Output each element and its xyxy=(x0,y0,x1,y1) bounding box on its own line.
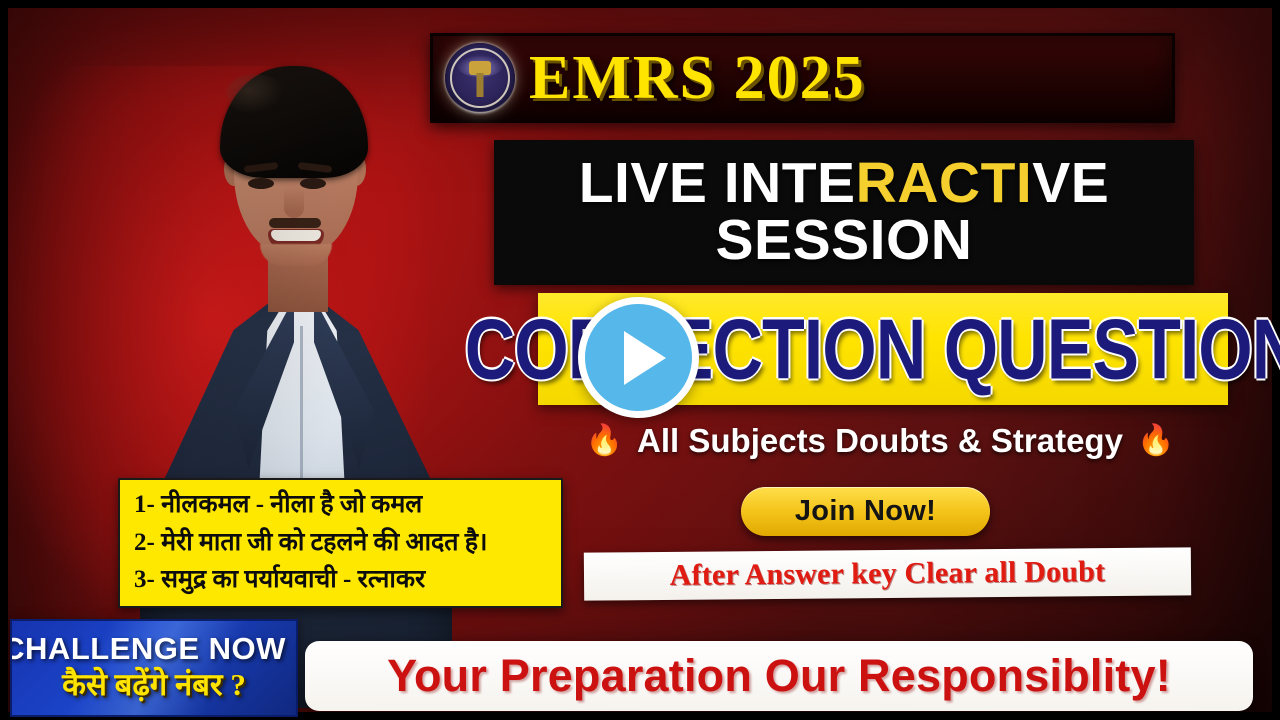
play-triangle-icon xyxy=(624,331,666,385)
emblem-trunk xyxy=(477,73,484,97)
presenter-lapel-right xyxy=(314,298,374,468)
headline-suffix: VE xyxy=(1032,151,1109,215)
presenter-eye-right xyxy=(300,178,326,189)
page-title: EMRS 2025 xyxy=(529,47,866,109)
fire-icon: 🔥 xyxy=(586,426,623,456)
headline-prefix: LIVE INTE xyxy=(579,151,856,215)
after-answer-key-text: After Answer key Clear all Doubt xyxy=(670,555,1106,593)
presenter-ear-right xyxy=(346,152,366,186)
emrs-emblem-icon xyxy=(445,43,515,113)
presenter-eyebrow-right xyxy=(298,162,333,173)
after-answer-key-banner: After Answer key Clear all Doubt xyxy=(584,547,1191,600)
live-session-headline-box: LIVE INTERACTIVE SESSION xyxy=(494,140,1194,285)
presenter-nose xyxy=(284,188,304,218)
presenter-eyebrow-left xyxy=(244,162,279,173)
play-button[interactable] xyxy=(578,297,699,418)
headline-line-1: LIVE INTERACTIVE xyxy=(579,156,1110,212)
note-line: 3- समुद्र का पर्यायवाची - रत्नाकर xyxy=(134,561,551,599)
tagline-text: Your Preparation Our Responsiblity! xyxy=(387,650,1171,702)
presenter-mouth xyxy=(268,229,324,249)
hindi-notes-box: 1- नीलकमल - नीला है जो कमल 2- मेरी माता … xyxy=(118,478,563,608)
presenter-face xyxy=(234,104,358,256)
headline-highlight: RACTI xyxy=(856,151,1033,215)
presenter-neck xyxy=(268,256,328,312)
fire-icon: 🔥 xyxy=(1137,426,1174,456)
presenter-teeth xyxy=(271,230,321,241)
challenge-now-subtitle: कैसे बढ़ेंगे नंबर ? xyxy=(62,666,246,703)
challenge-now-badge: CHALLENGE NOW ! कैसे बढ़ेंगे नंबर ? xyxy=(10,619,298,717)
emrs-header-plaque: EMRS 2025 xyxy=(430,33,1175,123)
note-line: 1- नीलकमल - नीला है जो कमल xyxy=(134,486,551,524)
presenter-lapel-left xyxy=(234,298,294,468)
subtitle-row: 🔥 All Subjects Doubts & Strategy 🔥 xyxy=(560,418,1200,464)
presenter-ear-left xyxy=(224,152,244,186)
tagline-banner: Your Preparation Our Responsiblity! xyxy=(305,641,1253,711)
presenter-chin xyxy=(260,244,332,266)
note-line: 2- मेरी माता जी को टहलने की आदत है। xyxy=(134,524,551,562)
challenge-now-label: CHALLENGE NOW ! xyxy=(10,632,298,666)
join-now-label: Join Now! xyxy=(795,495,936,528)
join-now-button[interactable]: Join Now! xyxy=(741,487,990,536)
thumbnail-canvas: EMRS 2025 LIVE INTERACTIVE SESSION CORRE… xyxy=(0,0,1280,720)
presenter-eye-left xyxy=(248,178,274,189)
subtitle-text: All Subjects Doubts & Strategy xyxy=(637,422,1123,460)
presenter-hair xyxy=(220,66,368,178)
headline-line-2: SESSION xyxy=(716,211,973,269)
presenter-moustache xyxy=(269,218,321,228)
